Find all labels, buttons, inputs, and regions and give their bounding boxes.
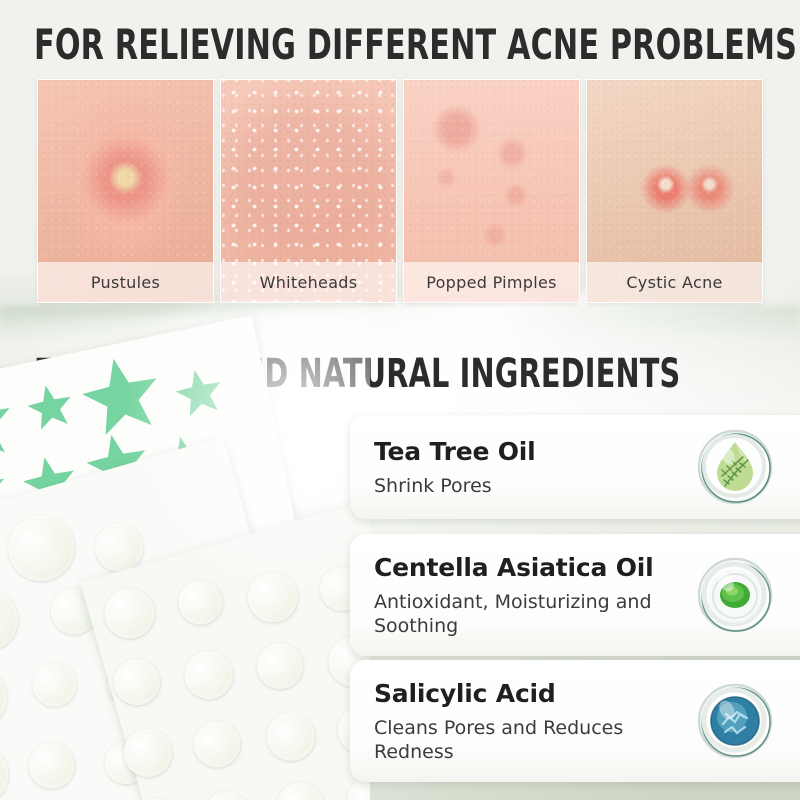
ingredient-text-block: Tea Tree Oil Shrink Pores xyxy=(350,437,692,498)
acne-problem-card: Cystic Acne xyxy=(587,80,762,302)
acne-problem-card-row: Pustules Whiteheads Popped Pimples xyxy=(38,80,762,302)
round-patch xyxy=(23,737,80,794)
ingredient-card-tea-tree-oil: Tea Tree Oil Shrink Pores xyxy=(350,415,800,519)
card-caption-label: Cystic Acne xyxy=(626,273,722,292)
product-infographic: FOR RELIEVING DIFFERENT ACNE PROBLEMS Pu… xyxy=(0,0,800,800)
ingredient-description: Antioxidant, Moisturizing and Soothing xyxy=(374,590,686,638)
star-patch xyxy=(24,381,76,433)
ingredient-name: Tea Tree Oil xyxy=(374,437,686,467)
round-patch xyxy=(198,786,255,800)
photo-highlight xyxy=(120,300,370,600)
card-caption-label: Whiteheads xyxy=(260,273,358,292)
card-caption-bar: Pustules xyxy=(38,262,213,302)
acne-problem-card: Whiteheads xyxy=(221,80,396,302)
acne-patch-sheets-photo xyxy=(0,300,370,800)
ingredient-name: Salicylic Acid xyxy=(374,679,686,709)
acne-problem-card: Pustules xyxy=(38,80,213,302)
round-patch xyxy=(252,637,309,694)
card-caption-label: Pustules xyxy=(91,273,160,292)
ingredient-text-block: Centella Asiatica Oil Antioxidant, Moist… xyxy=(350,553,692,638)
round-patch xyxy=(0,581,25,658)
round-patch xyxy=(0,507,82,589)
ingredient-text-block: Salicylic Acid Cleans Pores and Reduces … xyxy=(350,679,692,764)
round-patch xyxy=(108,654,165,711)
round-patch xyxy=(271,777,330,800)
round-patch xyxy=(0,658,14,737)
round-patch xyxy=(261,707,320,766)
problems-section-title: FOR RELIEVING DIFFERENT ACNE PROBLEMS xyxy=(34,22,797,68)
centella-asiatica-gel-icon xyxy=(692,552,778,638)
round-patch xyxy=(27,657,81,711)
card-caption-bar: Whiteheads xyxy=(221,262,396,302)
star-patch xyxy=(0,382,19,467)
salicylic-acid-gel-icon xyxy=(692,678,778,764)
card-caption-label: Popped Pimples xyxy=(426,273,557,292)
round-patch xyxy=(0,736,16,800)
ingredient-card-centella-asiatica-oil: Centella Asiatica Oil Antioxidant, Moist… xyxy=(350,534,800,656)
ingredient-description: Shrink Pores xyxy=(374,474,686,498)
round-patch xyxy=(179,645,238,704)
acne-problem-card: Popped Pimples xyxy=(404,80,579,302)
ingredient-description: Cleans Pores and Reduces Redness xyxy=(374,716,686,764)
card-caption-bar: Popped Pimples xyxy=(404,262,579,302)
ingredient-name: Centella Asiatica Oil xyxy=(374,553,686,583)
card-caption-bar: Cystic Acne xyxy=(587,262,762,302)
tea-tree-oil-droplet-icon xyxy=(692,424,778,510)
ingredient-card-salicylic-acid: Salicylic Acid Cleans Pores and Reduces … xyxy=(350,660,800,782)
round-patch xyxy=(189,716,246,773)
